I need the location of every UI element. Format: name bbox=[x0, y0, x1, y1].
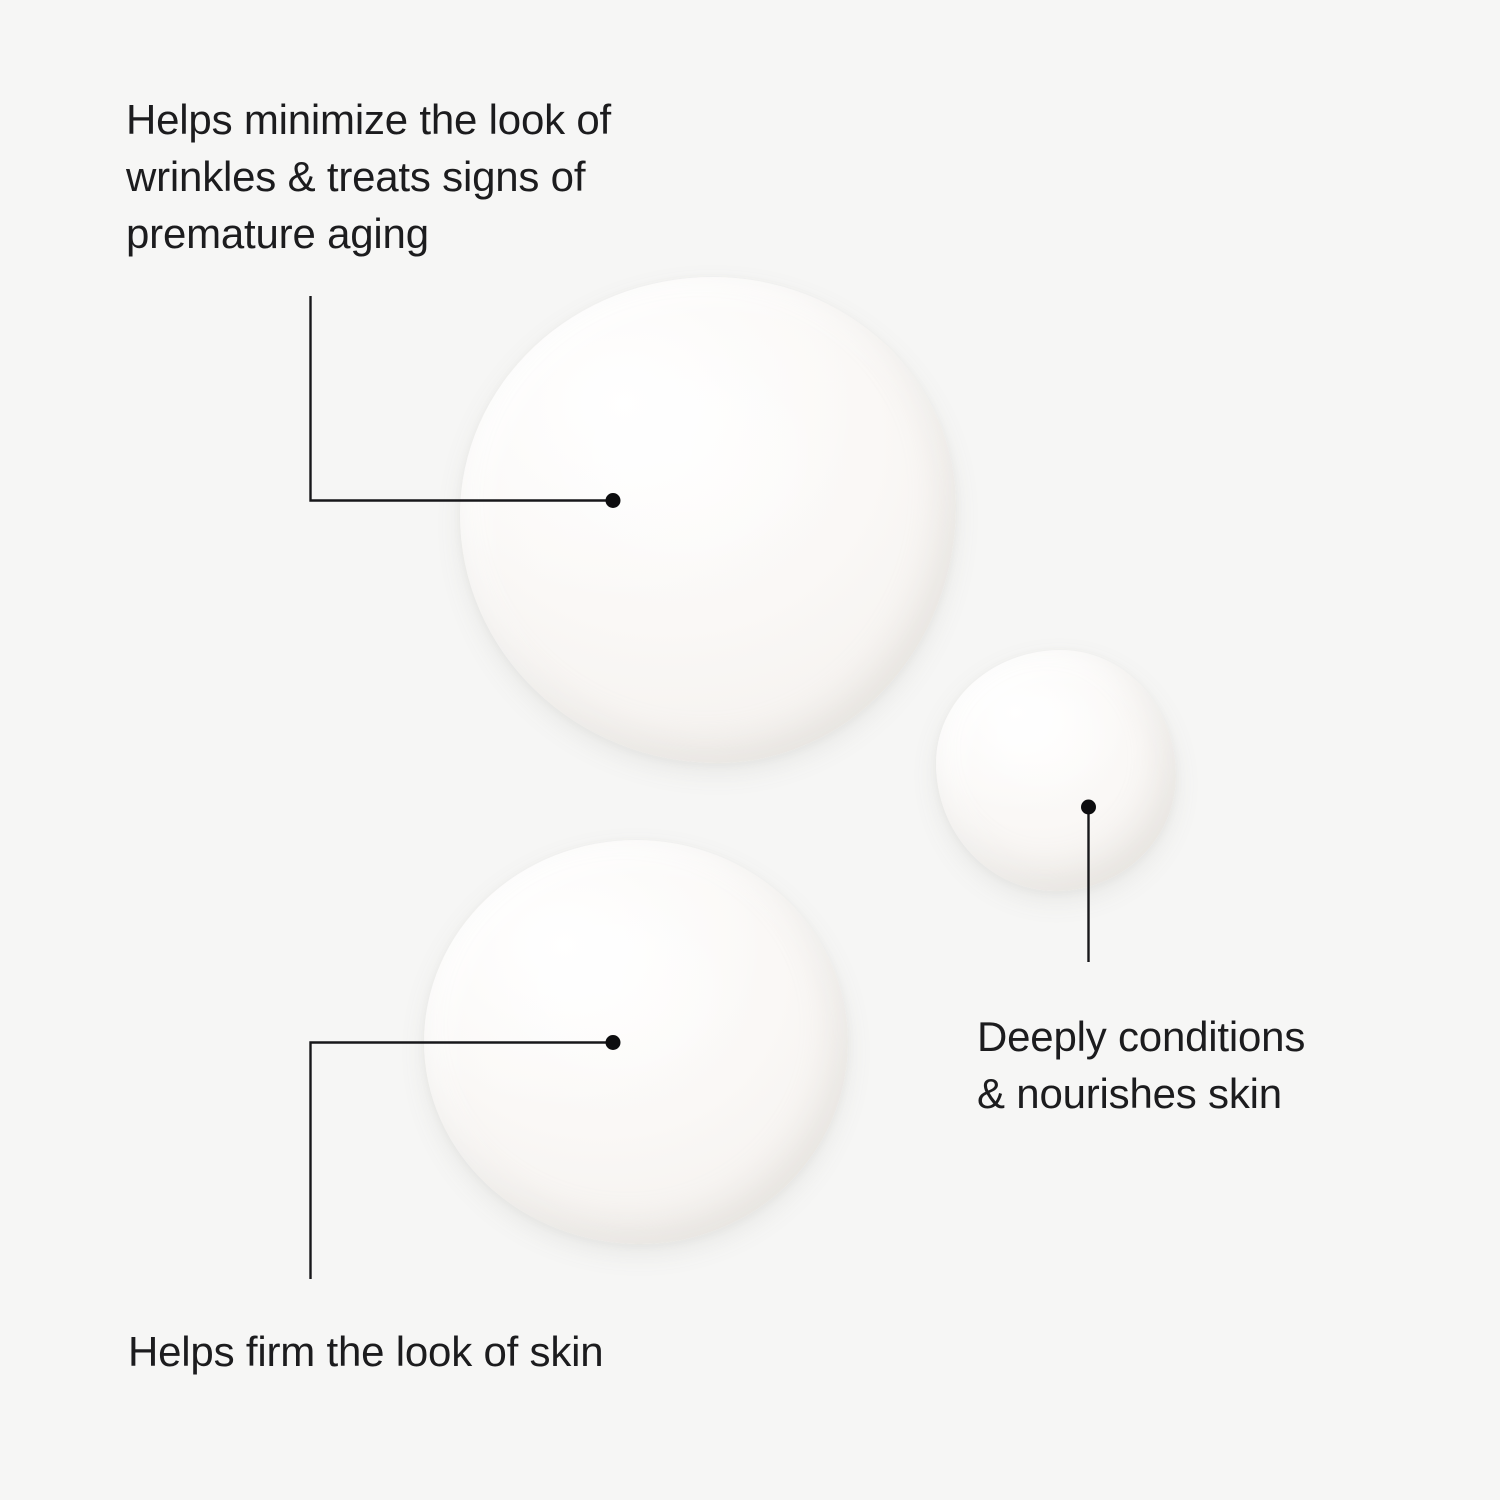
callout-label-firm: Helps firm the look of skin bbox=[128, 1323, 748, 1380]
callout-label-conditions: Deeply conditions & nourishes skin bbox=[977, 1008, 1407, 1122]
droplet-body bbox=[424, 840, 848, 1244]
callout-label-wrinkles: Helps minimize the look of wrinkles & tr… bbox=[126, 91, 746, 262]
cream-droplet-large bbox=[460, 277, 956, 763]
droplet-body bbox=[460, 277, 956, 763]
cream-droplet-medium bbox=[424, 840, 848, 1244]
droplet-body bbox=[936, 650, 1176, 891]
product-benefits-diagram: Helps minimize the look of wrinkles & tr… bbox=[0, 0, 1500, 1500]
cream-droplet-small bbox=[936, 650, 1176, 891]
